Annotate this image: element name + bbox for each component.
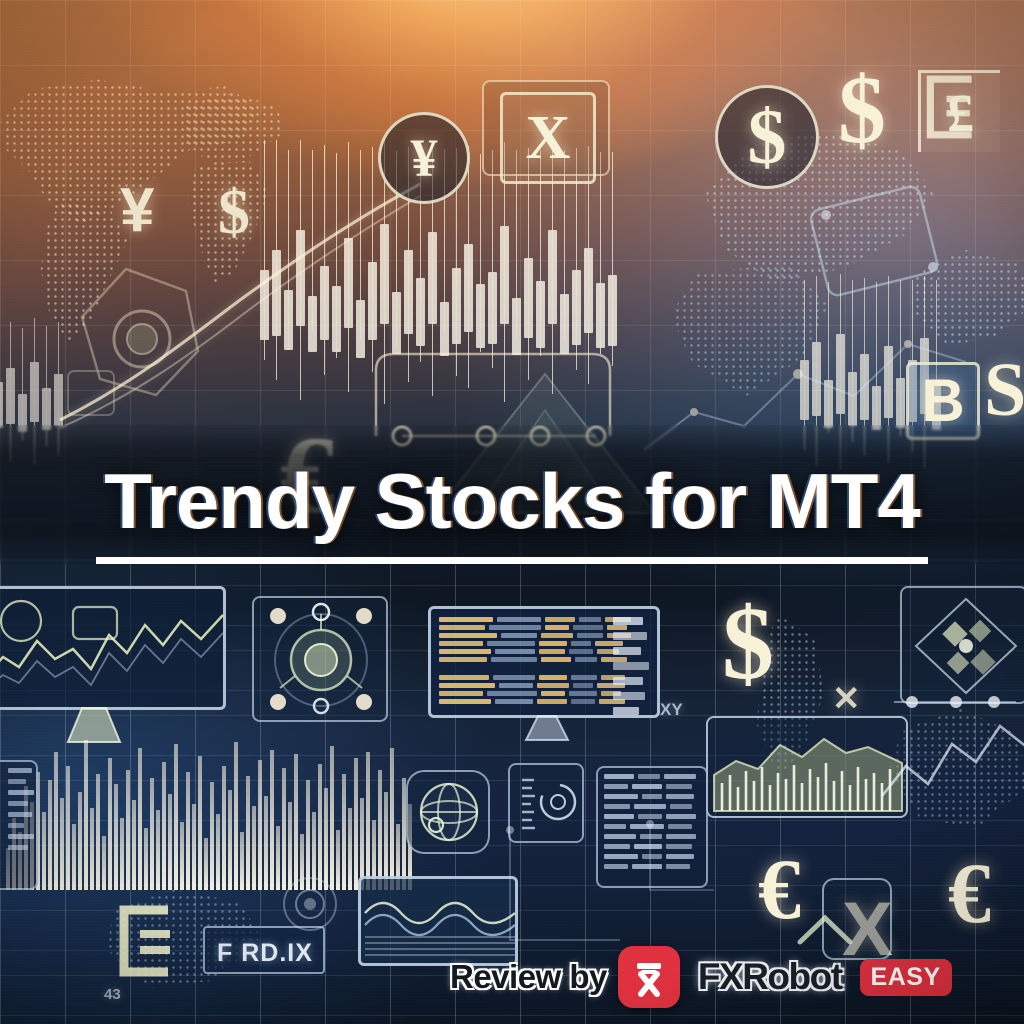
review-by-label: Review by xyxy=(450,958,607,996)
monitor-line-chart xyxy=(0,595,223,703)
node-slider-rail xyxy=(890,690,1020,714)
diamond-outline-shape xyxy=(790,175,970,310)
dollar-coin-glyph: $ xyxy=(748,98,787,176)
sell-letter-icon: S xyxy=(984,352,1024,428)
xy-axis-label: XY xyxy=(660,700,683,720)
mountain-chart-panel xyxy=(706,716,908,818)
monitor-line-chart-panel xyxy=(0,586,226,710)
dial-gauge-panel xyxy=(252,596,388,722)
x-boxed-icon: X xyxy=(500,92,596,184)
brand-name-label: FXRobot xyxy=(691,956,849,998)
title-container: Trendy Stocks for MT4 xyxy=(0,455,1024,565)
dollar-symbol-icon: $ xyxy=(218,180,250,244)
data-table-side-list xyxy=(613,617,649,715)
page-title: Trendy Stocks for MT4 xyxy=(96,456,928,564)
yen-coin-icon: ¥ xyxy=(378,112,470,204)
dial-gauge-graphic xyxy=(260,602,382,718)
fxrobot-logo-icon[interactable] xyxy=(618,946,680,1008)
x-boxed-glyph: X xyxy=(526,107,571,169)
buy-letter-glyph: B xyxy=(921,371,964,431)
x-mark-icon: ✕ xyxy=(832,682,861,716)
diamond-network-graphic xyxy=(908,593,1024,699)
yen-symbol-icon: ¥ xyxy=(120,180,154,242)
data-table-monitor-panel xyxy=(428,606,660,718)
e-bracket-icon-top xyxy=(916,72,986,142)
fxrobot-glyph xyxy=(628,956,670,998)
brand-footer: Review by FXRobot EASY xyxy=(450,946,952,1008)
yen-coin-glyph: ¥ xyxy=(411,131,438,185)
dollar-coin-icon: $ xyxy=(715,85,819,189)
circuit-decor-top-left xyxy=(60,255,270,435)
left-edge-table-panel xyxy=(0,760,38,890)
euro-bottom-right-icon: € xyxy=(948,850,991,936)
data-table-rows-lower xyxy=(439,675,625,704)
dollar-bottom-icon: $ xyxy=(722,592,774,696)
euro-bottom-left-icon: € xyxy=(758,846,801,932)
table-monitor-stand-icon xyxy=(512,716,582,742)
diamond-network-panel xyxy=(900,586,1024,704)
e-bracket-icon xyxy=(108,902,186,980)
frdix-ticker-label: F RD.IX xyxy=(217,939,313,968)
mountain-area-chart xyxy=(714,723,902,813)
volume-histogram-chart xyxy=(6,740,412,890)
globe-icon-panel xyxy=(406,770,490,854)
code-label-43: 43 xyxy=(104,986,121,1003)
dollar-large-icon: $ xyxy=(838,62,886,158)
brand-easy-badge: EASY xyxy=(860,959,952,996)
chevron-up-icon xyxy=(796,912,854,948)
globe-icon xyxy=(416,779,482,845)
circular-emblem-icon xyxy=(278,872,342,936)
left-edge-table-rows xyxy=(8,768,34,850)
data-table-rows-upper xyxy=(439,617,631,662)
zigzag-trend-line-right xyxy=(880,700,1024,810)
banner-image: ¥ $ ¥ X $ $ £ € B S $ ✕ € € X Trendy Sto… xyxy=(0,0,1024,1024)
